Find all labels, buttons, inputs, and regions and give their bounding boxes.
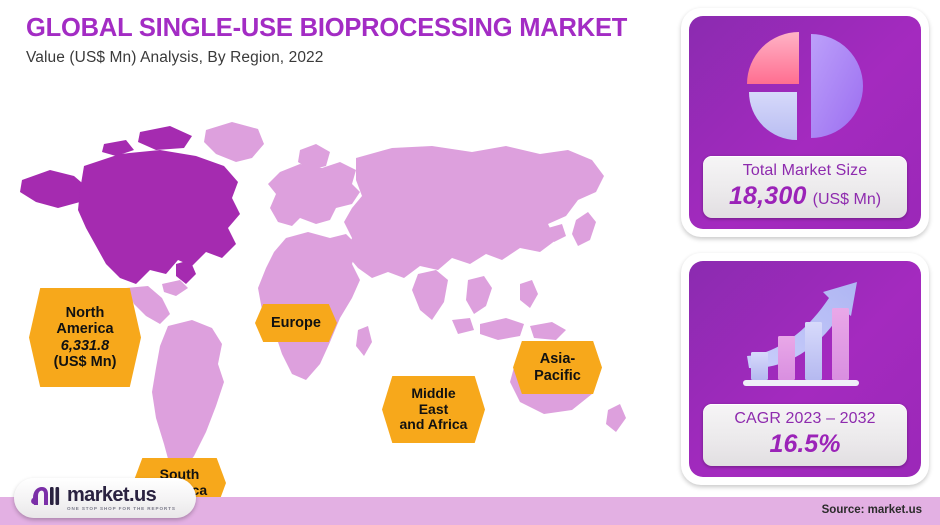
region-label-line-1: North: [66, 305, 105, 321]
region-label-line-2: Pacific: [534, 368, 581, 384]
region-value: 6,331.8: [61, 338, 109, 354]
market-size-card-inner: Total Market Size 18,300 (US$ Mn): [689, 16, 921, 229]
infographic-root: GLOBAL SINGLE-USE BIOPROCESSING MARKET V…: [0, 0, 940, 525]
market-size-value-row: 18,300 (US$ Mn): [707, 182, 903, 211]
baseline: [743, 380, 859, 386]
region-label-line-2: America: [56, 321, 113, 337]
region-label-line-2: East: [419, 402, 449, 418]
header: GLOBAL SINGLE-USE BIOPROCESSING MARKET V…: [26, 14, 666, 67]
growth-chart-graphic: [689, 261, 921, 404]
world-map: North America 6,331.8 (US$ Mn) Europe Mi…: [0, 88, 672, 488]
region-badge-asia-pacific[interactable]: Asia- Pacific: [513, 341, 602, 394]
cagr-label: CAGR 2023 – 2032: [707, 409, 903, 429]
bar-1: [751, 352, 768, 380]
market-size-value-pill: Total Market Size 18,300 (US$ Mn): [703, 156, 907, 218]
region-unit: (US$ Mn): [54, 354, 117, 370]
region-label-line-1: Asia-: [540, 351, 575, 367]
region-badge-middle-east-and-africa[interactable]: Middle East and Africa: [382, 376, 485, 443]
cagr-card: CAGR 2023 – 2032 16.5%: [681, 253, 929, 485]
region-label-line-1: Middle: [411, 386, 455, 402]
source-label: Source: market.us: [822, 504, 922, 516]
market-size-unit: (US$ Mn): [813, 191, 881, 209]
region-label-line-3: and Africa: [400, 417, 468, 433]
market-us-logo-icon: [30, 484, 60, 513]
bar-4: [832, 308, 849, 380]
region-label-line-1: Europe: [271, 315, 321, 331]
map-highlight-region-north-america: [20, 126, 240, 284]
market-us-logo-word: market.us: [67, 485, 176, 505]
cagr-value-pill: CAGR 2023 – 2032 16.5%: [703, 404, 907, 466]
market-size-label: Total Market Size: [707, 161, 903, 181]
region-badge-europe[interactable]: Europe: [255, 304, 337, 342]
market-size-value: 18,300: [729, 182, 807, 211]
market-size-card: Total Market Size 18,300 (US$ Mn): [681, 8, 929, 237]
pie-chart-graphic: [689, 16, 921, 156]
market-us-logo[interactable]: market.us ONE STOP SHOP FOR THE REPORTS: [14, 478, 196, 518]
region-badge-north-america[interactable]: North America 6,331.8 (US$ Mn): [29, 288, 141, 387]
market-us-logo-tagline: ONE STOP SHOP FOR THE REPORTS: [67, 507, 176, 512]
bar-3: [805, 322, 822, 380]
market-us-logo-text-block: market.us ONE STOP SHOP FOR THE REPORTS: [67, 485, 176, 512]
cagr-value: 16.5%: [707, 430, 903, 459]
page-subtitle: Value (US$ Mn) Analysis, By Region, 2022: [26, 49, 666, 67]
growth-bar-chart-arrow-icon: [735, 270, 875, 396]
cagr-card-inner: CAGR 2023 – 2032 16.5%: [689, 261, 921, 477]
bar-2: [778, 336, 795, 380]
pie-chart-icon: [741, 22, 869, 150]
page-title: GLOBAL SINGLE-USE BIOPROCESSING MARKET: [26, 14, 666, 43]
